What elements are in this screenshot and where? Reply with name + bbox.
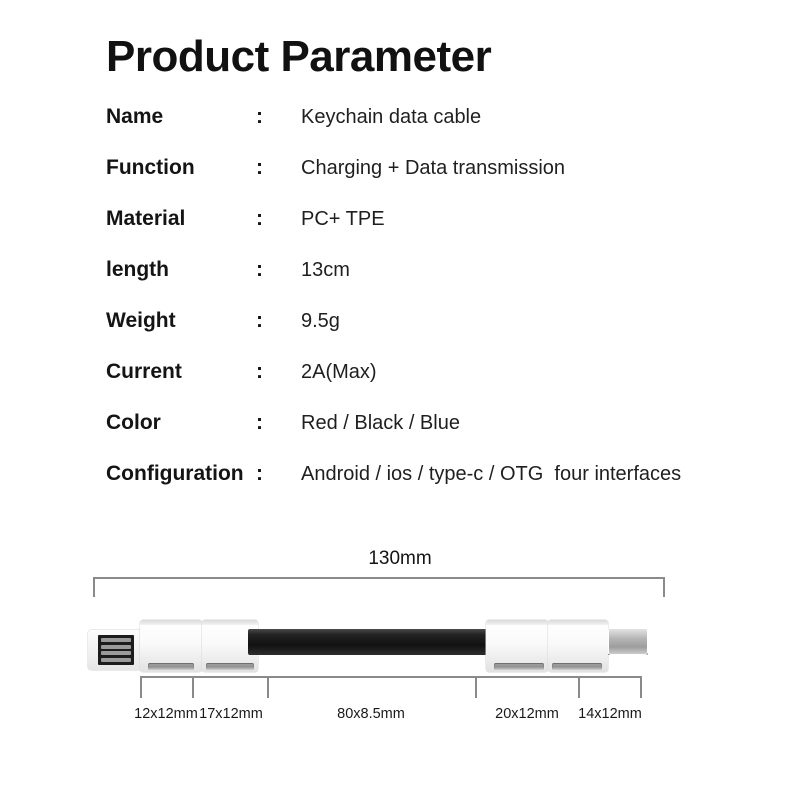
spec-value-current: 2A(Max) bbox=[301, 361, 377, 384]
spec-value-length: 13cm bbox=[301, 259, 350, 282]
left-port-2 bbox=[206, 663, 254, 670]
right-port-1 bbox=[494, 663, 544, 670]
right-housing-block-1 bbox=[486, 620, 548, 672]
spec-colon: : bbox=[256, 156, 301, 180]
spec-value-function: Charging + Data transmission bbox=[301, 157, 565, 180]
spec-value-material: PC+ TPE bbox=[301, 208, 385, 231]
spec-colon: : bbox=[256, 411, 301, 435]
spec-value-weight: 9.5g bbox=[301, 310, 340, 333]
scale-tick bbox=[640, 676, 642, 698]
scale-rule bbox=[140, 676, 640, 678]
product-parameter-table: Name : Keychain data cable Function : Ch… bbox=[106, 105, 766, 513]
table-row: Weight : 9.5g bbox=[106, 309, 766, 360]
spec-value-color: Red / Black / Blue bbox=[301, 412, 460, 435]
spec-colon: : bbox=[256, 105, 301, 129]
spec-label-weight: Weight bbox=[106, 309, 256, 333]
right-port-2 bbox=[552, 663, 602, 670]
spec-colon: : bbox=[256, 360, 301, 384]
table-row: Configuration : Android / ios / type-c /… bbox=[106, 462, 766, 513]
scale-tick bbox=[578, 676, 580, 698]
scale-tick bbox=[267, 676, 269, 698]
product-image bbox=[88, 612, 678, 674]
total-length-label: 130mm bbox=[0, 548, 800, 570]
spec-colon: : bbox=[256, 207, 301, 231]
table-row: Material : PC+ TPE bbox=[106, 207, 766, 258]
spec-label-name: Name bbox=[106, 105, 256, 129]
usb-a-contacts-icon bbox=[98, 635, 134, 665]
spec-colon: : bbox=[256, 258, 301, 282]
usb-a-connector-icon bbox=[88, 630, 144, 670]
segment-label-3: 80x8.5mm bbox=[337, 706, 405, 722]
table-row: Current : 2A(Max) bbox=[106, 360, 766, 411]
spec-label-color: Color bbox=[106, 411, 256, 435]
spec-label-configuration: Configuration bbox=[106, 462, 256, 486]
spec-label-current: Current bbox=[106, 360, 256, 384]
segment-scale: 12x12mm 17x12mm 80x8.5mm 20x12mm 14x12mm bbox=[0, 676, 800, 706]
segment-label-4: 20x12mm bbox=[495, 706, 559, 722]
dimension-diagram: 130mm bbox=[0, 540, 800, 740]
scale-tick bbox=[475, 676, 477, 698]
spec-value-name: Keychain data cable bbox=[301, 106, 481, 129]
spec-label-function: Function bbox=[106, 156, 256, 180]
left-housing-block-1 bbox=[140, 620, 202, 672]
spec-label-length: length bbox=[106, 258, 256, 282]
page-title: Product Parameter bbox=[106, 32, 491, 82]
table-row: length : 13cm bbox=[106, 258, 766, 309]
table-row: Function : Charging + Data transmission bbox=[106, 156, 766, 207]
segment-label-1: 12x12mm bbox=[134, 706, 198, 722]
left-port-1 bbox=[148, 663, 194, 670]
table-row: Color : Red / Black / Blue bbox=[106, 411, 766, 462]
spec-colon: : bbox=[256, 309, 301, 333]
scale-tick bbox=[140, 676, 142, 698]
spec-value-configuration: Android / ios / type-c / OTG four interf… bbox=[301, 463, 681, 486]
spec-label-material: Material bbox=[106, 207, 256, 231]
segment-label-2: 17x12mm bbox=[199, 706, 263, 722]
spec-colon: : bbox=[256, 462, 301, 486]
total-length-bracket bbox=[93, 577, 665, 597]
segment-label-5: 14x12mm bbox=[578, 706, 642, 722]
type-c-connector-icon bbox=[608, 628, 648, 655]
table-row: Name : Keychain data cable bbox=[106, 105, 766, 156]
right-housing-block-2 bbox=[548, 620, 608, 672]
scale-tick bbox=[192, 676, 194, 698]
